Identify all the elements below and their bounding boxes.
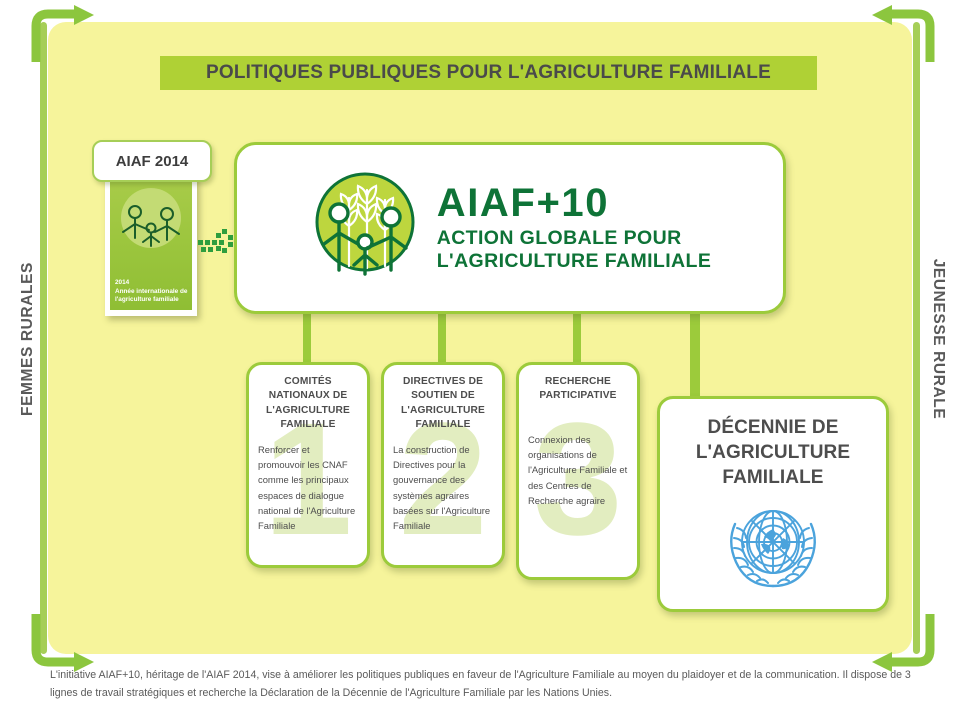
logo-tagline-line2: L'AGRICULTURE FAMILIALE: [437, 250, 712, 273]
dotted-arrow-icon: [198, 226, 240, 260]
strategy-card-2-heading: DIRECTIVES DE SOUTIEN DE L'AGRICULTURE F…: [393, 375, 493, 433]
logo-tagline-line1: ACTION GLOBALE POUR: [437, 227, 712, 250]
corner-arrow-top-right-icon: [866, 4, 944, 66]
corner-arrow-top-left-icon: [22, 4, 100, 66]
aiaf-plus-10-logo-card: AIAF+10 ACTION GLOBALE POUR L'AGRICULTUR…: [234, 142, 786, 314]
strategy-card-3[interactable]: 3 RECHERCHE PARTICIPATIVE Connexion des …: [516, 362, 640, 580]
aiaf-plus-10-wordmark: AIAF+10 ACTION GLOBALE POUR L'AGRICULTUR…: [437, 183, 712, 272]
connector-to-card-2: [438, 306, 446, 364]
aiaf-plus-10-logo: AIAF+10 ACTION GLOBALE POUR L'AGRICULTUR…: [309, 170, 712, 287]
poster-caption: 2014 Année internationale de l'agricultu…: [115, 279, 188, 304]
corner-arrow-bottom-left-icon: [22, 610, 100, 672]
poster-caption-line1: Année internationale de: [115, 288, 188, 296]
strategy-card-3-heading: RECHERCHE PARTICIPATIVE: [528, 375, 628, 404]
logo-acronym: AIAF+10: [437, 183, 712, 224]
aiaf-2014-badge[interactable]: AIAF 2014: [92, 140, 212, 182]
left-accent-rail: [40, 22, 47, 654]
poster-caption-line2: l'agriculture familiale: [115, 296, 188, 304]
page-title-band: POLITIQUES PUBLIQUES POUR L'AGRICULTURE …: [160, 56, 817, 90]
strategy-card-2[interactable]: 2 DIRECTIVES DE SOUTIEN DE L'AGRICULTURE…: [381, 362, 505, 568]
strategy-card-1-heading: COMITÉS NATIONAUX DE L'AGRICULTURE FAMIL…: [258, 375, 358, 433]
side-label-femmes-rurales: FEMMES RURALES: [19, 254, 37, 424]
strategy-card-2-body: La construction de Directives pour la go…: [393, 442, 493, 533]
strategy-card-1-body: Renforcer et promouvoir les CNAF comme l…: [258, 442, 358, 533]
side-label-jeunesse-rurale: JEUNESSE RURALE: [929, 254, 947, 424]
connector-to-card-3: [573, 306, 581, 364]
strategy-card-3-body: Connexion des organisations de l'Agricul…: [528, 432, 628, 508]
infographic-canvas: FEMMES RURALES JEUNESSE RURALE POLITIQUE…: [0, 0, 960, 720]
decennie-title: DÉCENNIE DE L'AGRICULTURE FAMILIALE: [660, 415, 886, 490]
connector-to-decennie: [690, 306, 700, 400]
aiaf-2014-badge-label: AIAF 2014: [116, 153, 189, 170]
poster-artwork: 2014 Année internationale de l'agricultu…: [110, 172, 192, 310]
aiaf-2014-poster-thumbnail: 2014 Année internationale de l'agricultu…: [105, 168, 197, 316]
aiaf-family-wheat-circle-icon: [309, 170, 421, 287]
page-title: POLITIQUES PUBLIQUES POUR L'AGRICULTURE …: [206, 62, 771, 84]
poster-caption-year: 2014: [115, 279, 188, 287]
united-nations-emblem-icon: [721, 498, 825, 599]
strategy-card-1[interactable]: 1 COMITÉS NATIONAUX DE L'AGRICULTURE FAM…: [246, 362, 370, 568]
connector-to-card-1: [303, 306, 311, 364]
decennie-card[interactable]: DÉCENNIE DE L'AGRICULTURE FAMILIALE: [657, 396, 889, 612]
footer-caption: L'initiative AIAF+10, héritage de l'AIAF…: [50, 666, 912, 702]
right-accent-rail: [913, 22, 920, 654]
corner-arrow-bottom-right-icon: [866, 610, 944, 672]
